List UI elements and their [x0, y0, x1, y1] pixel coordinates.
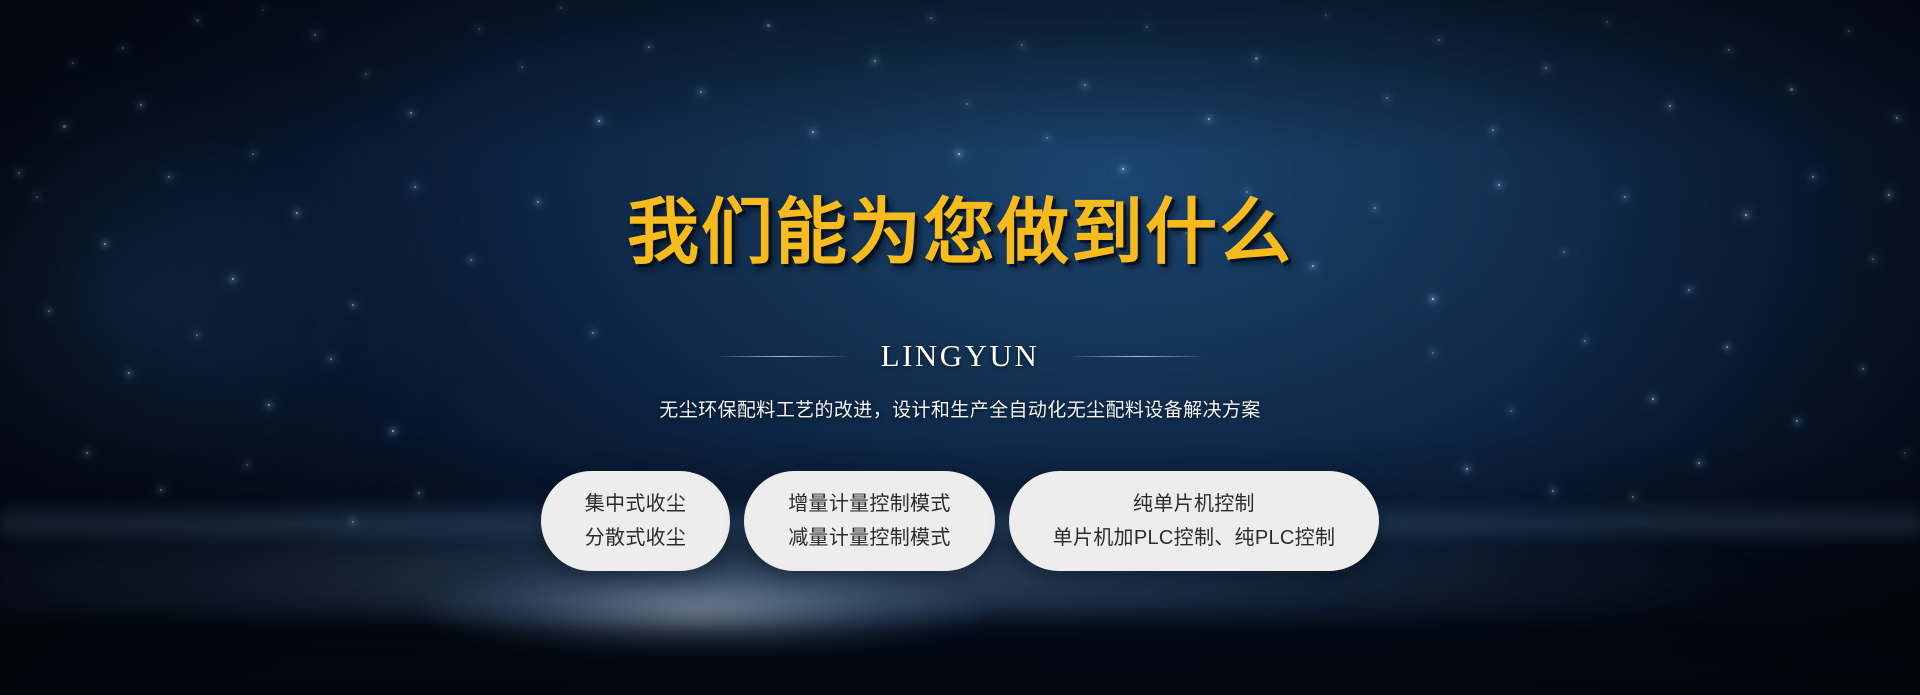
banner-headline: 我们能为您做到什么 — [627, 196, 1293, 268]
hero-banner: 我们能为您做到什么 LINGYUN 无尘环保配料工艺的改进，设计和生产全自动化无… — [0, 0, 1920, 695]
divider-line-right — [1073, 356, 1201, 357]
feature-card-list: 集中式收尘 分散式收尘 增量计量控制模式 减量计量控制模式 纯单片机控制 单片机… — [541, 471, 1380, 571]
feature-card-line2: 减量计量控制模式 — [788, 527, 950, 549]
feature-card-line2: 单片机加PLC控制、纯PLC控制 — [1053, 527, 1336, 549]
feature-card-line1: 增量计量控制模式 — [788, 493, 950, 515]
brand-subtitle-row: LINGYUN — [719, 338, 1202, 374]
banner-content: 我们能为您做到什么 LINGYUN 无尘环保配料工艺的改进，设计和生产全自动化无… — [0, 0, 1920, 695]
brand-name-en: LINGYUN — [881, 338, 1040, 374]
feature-card-line1: 集中式收尘 — [585, 493, 687, 515]
feature-card[interactable]: 纯单片机控制 单片机加PLC控制、纯PLC控制 — [1009, 471, 1380, 571]
feature-card[interactable]: 集中式收尘 分散式收尘 — [541, 471, 731, 571]
banner-description: 无尘环保配料工艺的改进，设计和生产全自动化无尘配料设备解决方案 — [659, 395, 1260, 422]
feature-card-line2: 分散式收尘 — [585, 527, 687, 549]
feature-card[interactable]: 增量计量控制模式 减量计量控制模式 — [744, 471, 994, 571]
divider-line-left — [719, 356, 847, 357]
feature-card-line1: 纯单片机控制 — [1133, 493, 1255, 515]
